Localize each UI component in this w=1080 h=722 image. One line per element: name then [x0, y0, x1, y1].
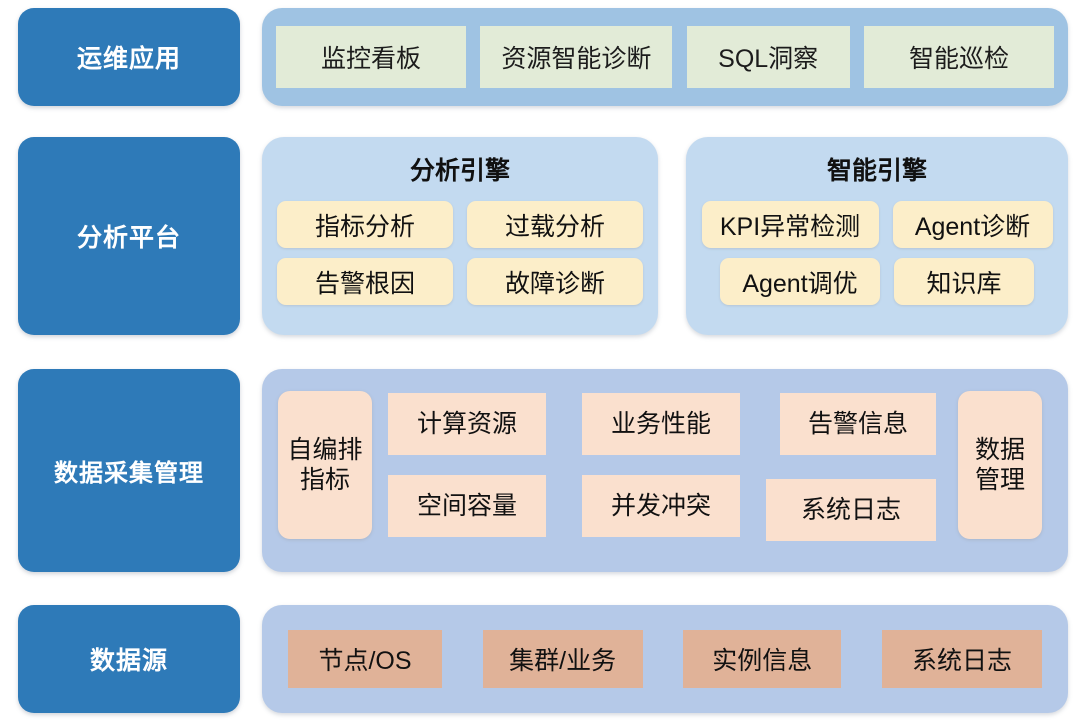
layer-label-text: 分析平台: [77, 218, 181, 254]
engine-chip-metric-analysis[interactable]: 指标分析: [277, 201, 453, 248]
collect-chip-label: 数据 管理: [975, 435, 1025, 495]
source-chip-instance-info[interactable]: 实例信息: [683, 630, 841, 688]
engine-chip-alarm-root-cause[interactable]: 告警根因: [277, 258, 453, 305]
engine-chip-knowledge-base[interactable]: 知识库: [894, 258, 1034, 305]
engine-chip-overload-analysis[interactable]: 过载分析: [467, 201, 643, 248]
collect-chip-compute-resource[interactable]: 计算资源: [388, 393, 546, 455]
layer-label-text: 数据采集管理: [54, 453, 204, 488]
engine-chip-agent-tuning[interactable]: Agent调优: [720, 258, 880, 305]
panel-title-analysis-engine: 分析引擎: [262, 151, 658, 187]
app-chip-resource-diagnosis[interactable]: 资源智能诊断: [480, 26, 672, 88]
collection-band: 自编排 指标 计算资源 空间容量 业务性能 并发冲突 告警信息 系统日志 数据 …: [262, 369, 1068, 572]
layer-label-text: 数据源: [90, 641, 168, 677]
datasource-list: 节点/OS 集群/业务 实例信息 系统日志: [262, 605, 1068, 713]
collect-chip-data-management[interactable]: 数据 管理: [958, 391, 1042, 539]
app-chip-monitor-dashboard[interactable]: 监控看板: [276, 26, 466, 88]
architecture-diagram: 运维应用 分析平台 数据采集管理 数据源 监控看板 资源智能诊断 SQL洞察 智…: [0, 0, 1080, 722]
intelligent-engine-chip-grid: KPI异常检测 Agent诊断 Agent调优 知识库: [686, 187, 1068, 305]
collect-chip-self-orchestrated-metric[interactable]: 自编排 指标: [278, 391, 372, 539]
engine-chip-agent-diagnosis[interactable]: Agent诊断: [893, 201, 1053, 248]
layer-label-ops-apps[interactable]: 运维应用: [18, 8, 240, 106]
source-chip-system-log[interactable]: 系统日志: [882, 630, 1042, 688]
app-chip-sql-insight[interactable]: SQL洞察: [687, 26, 850, 88]
analysis-engine-chip-grid: 指标分析 过载分析 告警根因 故障诊断: [262, 187, 658, 305]
engine-chip-fault-diagnosis[interactable]: 故障诊断: [467, 258, 643, 305]
panel-title-intelligent-engine: 智能引擎: [686, 151, 1068, 187]
collect-chip-alarm-info[interactable]: 告警信息: [780, 393, 936, 455]
layer-label-datasource[interactable]: 数据源: [18, 605, 240, 713]
analysis-platform-band: 分析引擎 指标分析 过载分析 告警根因 故障诊断 智能引擎 KPI异常检测 Ag…: [262, 137, 1068, 335]
collect-chip-system-log[interactable]: 系统日志: [766, 479, 936, 541]
app-chip-smart-inspection[interactable]: 智能巡检: [864, 26, 1054, 88]
source-chip-node-os[interactable]: 节点/OS: [288, 630, 442, 688]
layer-label-analysis[interactable]: 分析平台: [18, 137, 240, 335]
ops-apps-band: 监控看板 资源智能诊断 SQL洞察 智能巡检: [262, 8, 1068, 106]
ops-apps-list: 监控看板 资源智能诊断 SQL洞察 智能巡检: [262, 8, 1068, 106]
collect-chip-label: 自编排 指标: [287, 435, 362, 495]
datasource-band: 节点/OS 集群/业务 实例信息 系统日志: [262, 605, 1068, 713]
collect-chip-space-capacity[interactable]: 空间容量: [388, 475, 546, 537]
panel-analysis-engine: 分析引擎 指标分析 过载分析 告警根因 故障诊断: [262, 137, 658, 335]
source-chip-cluster-business[interactable]: 集群/业务: [483, 630, 643, 688]
layer-label-collection[interactable]: 数据采集管理: [18, 369, 240, 572]
collect-chip-concurrency-conflict[interactable]: 并发冲突: [582, 475, 740, 537]
layer-label-text: 运维应用: [77, 39, 181, 75]
collect-chip-business-performance[interactable]: 业务性能: [582, 393, 740, 455]
panel-intelligent-engine: 智能引擎 KPI异常检测 Agent诊断 Agent调优 知识库: [686, 137, 1068, 335]
engine-chip-kpi-anomaly-detection[interactable]: KPI异常检测: [702, 201, 879, 248]
